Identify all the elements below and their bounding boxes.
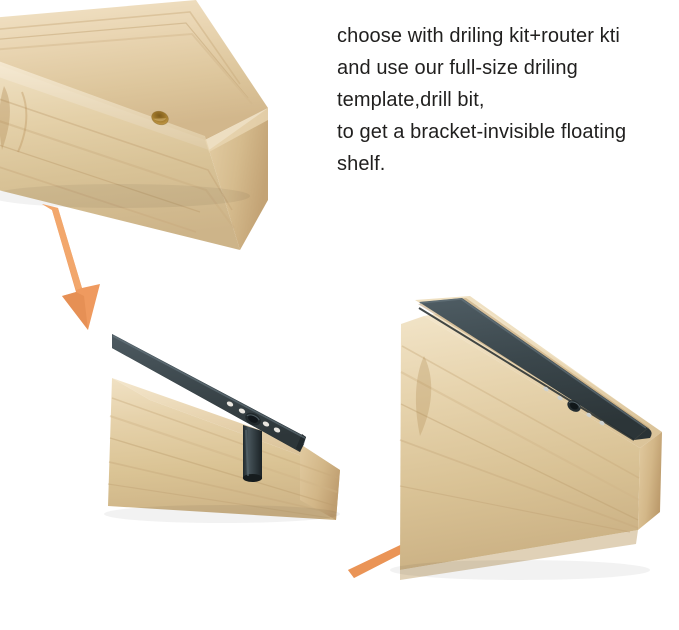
instruction-line-3: template,drill bit,: [337, 84, 672, 116]
instruction-line-1: choose with driling kit+router kti: [337, 20, 672, 52]
instruction-text-block: choose with driling kit+router kti and u…: [337, 20, 672, 180]
infographic-canvas: choose with driling kit+router kti and u…: [0, 0, 679, 630]
instruction-line-5: shelf.: [337, 148, 672, 180]
plank-body-right: [390, 296, 662, 580]
instruction-line-2: and use our full-size driling: [337, 52, 672, 84]
instruction-line-4: to get a bracket-invisible floating: [337, 116, 672, 148]
plank-shadow-right: [390, 560, 650, 580]
